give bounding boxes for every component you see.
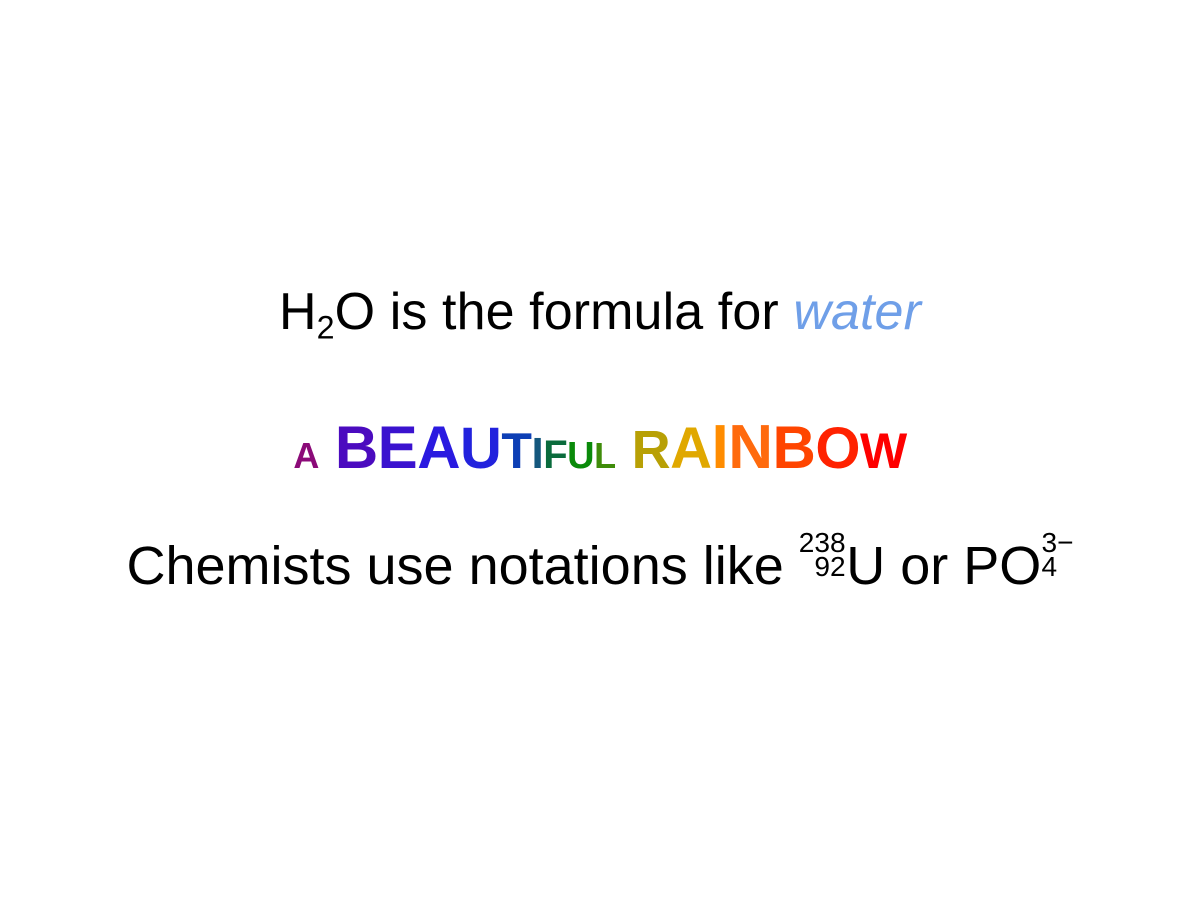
rainbow-letter-o-17: O	[815, 420, 860, 478]
rainbow-letter-f-8: F	[543, 435, 567, 475]
isotope-prescript-group: 23892	[799, 530, 846, 580]
rainbow-letter-t-6: T	[501, 426, 531, 476]
rainbow-letter-u-5: U	[460, 420, 501, 478]
rainbow-letter-b-2: B	[335, 418, 378, 478]
ion-symbol: PO	[963, 536, 1041, 596]
isotope-atomic-number: 92	[799, 554, 846, 580]
ion-atom-count: 4	[1042, 554, 1074, 580]
formula-symbol-o: O	[335, 283, 376, 341]
formula-subscript-2: 2	[317, 310, 335, 346]
slide-canvas: H2O is the formula for water ABEAUTIFULR…	[0, 0, 1200, 900]
ion-script-group: 3−4	[1042, 530, 1074, 580]
rainbow-letter-l-10: L	[594, 438, 616, 474]
emphasis-word-water: water	[793, 283, 921, 341]
rainbow-letter-a-4: A	[417, 418, 460, 478]
rainbow-letter-a-13: A	[670, 420, 711, 478]
formula-symbol-h: H	[279, 283, 317, 341]
rainbow-text-line: ABEAUTIFULRAINBOW	[0, 417, 1200, 479]
rainbow-letter-b-16: B	[773, 418, 816, 478]
rainbow-letter-i-14: I	[711, 417, 728, 479]
rainbow-letter-r-12: R	[632, 423, 671, 477]
formula-middle-text: is the formula for	[375, 283, 793, 341]
rainbow-letter-i-7: I	[531, 432, 543, 476]
isotope-element-symbol: U	[846, 536, 885, 596]
rainbow-letter-n-15: N	[728, 417, 772, 479]
notation-lead-text: Chemists use notations like	[126, 536, 798, 596]
rainbow-letter-u-9: U	[567, 437, 594, 475]
chemistry-notation-line: Chemists use notations like 23892U or PO…	[0, 538, 1200, 593]
rainbow-letter-w-18: W	[860, 426, 907, 476]
rainbow-letter-e-3: E	[378, 418, 418, 478]
notation-conjunction: or	[885, 536, 963, 596]
rainbow-letter-a-0: A	[293, 438, 319, 474]
chemical-formula-line: H2O is the formula for water	[0, 286, 1200, 344]
